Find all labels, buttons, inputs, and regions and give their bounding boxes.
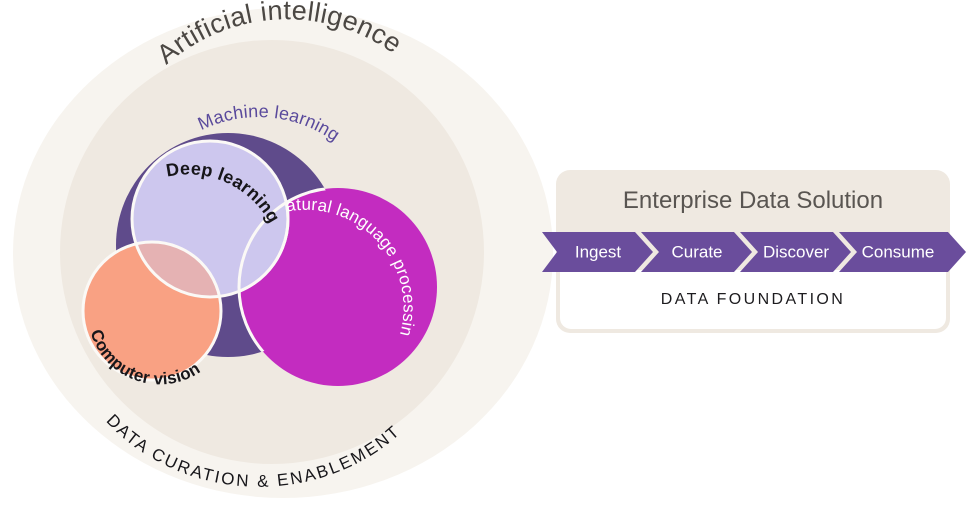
- data-foundation-box: DATA FOUNDATION: [560, 270, 946, 329]
- chevron-step-ingest-label: Ingest: [575, 242, 622, 261]
- diagram-canvas: Artificial intelligence Machine learning…: [0, 0, 975, 505]
- data-foundation-label: DATA FOUNDATION: [560, 270, 946, 329]
- ai-venn-diagram: Artificial intelligence Machine learning…: [0, 0, 560, 505]
- chevron-step-curate[interactable]: Curate: [641, 232, 752, 272]
- chevron-step-curate-label: Curate: [671, 242, 722, 261]
- enterprise-data-solution-title: Enterprise Data Solution: [556, 170, 950, 232]
- chevron-step-ingest[interactable]: Ingest: [542, 232, 653, 272]
- data-lifecycle-chevron-band: Ingest Curate Discover Consume: [540, 230, 968, 274]
- chevron-step-discover[interactable]: Discover: [740, 232, 851, 272]
- chevron-step-consume[interactable]: Consume: [839, 232, 966, 272]
- chevron-step-discover-label: Discover: [763, 242, 829, 261]
- chevron-step-consume-label: Consume: [862, 242, 935, 261]
